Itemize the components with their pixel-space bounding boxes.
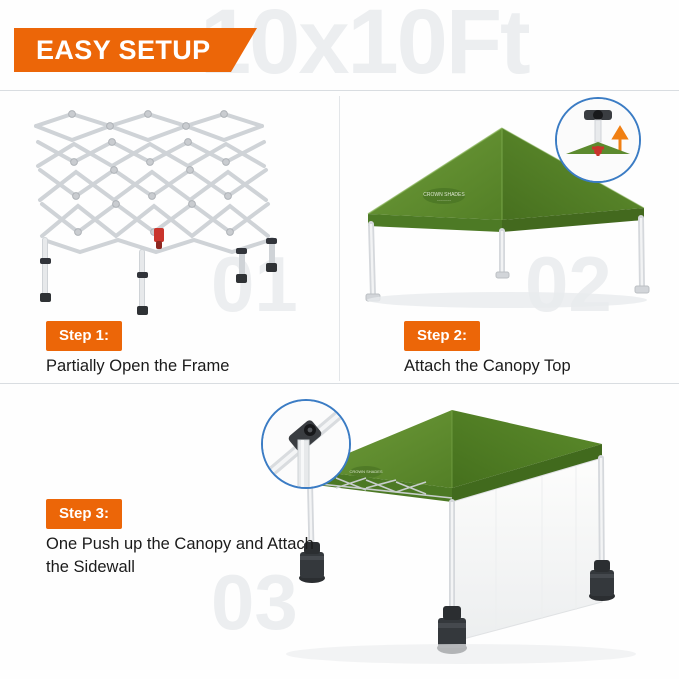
canopy-top-illustration: CROWN SHADES ~~~~~~~ [352,96,670,311]
folded-frame-illustration [14,100,324,315]
sidewall-push-up-photo: CROWN SHADES [246,392,666,670]
step-1-text: Partially Open the Frame [46,355,229,378]
divider-top [0,90,679,91]
svg-text:CROWN SHADES: CROWN SHADES [349,469,382,474]
svg-text:CROWN SHADES: CROWN SHADES [423,192,465,198]
banner-label: EASY SETUP [14,28,231,72]
canopy-top-photo: CROWN SHADES ~~~~~~~ [352,96,670,311]
product-instruction-graphic: 10x10Ft EASY SETUP 01 02 03 [0,0,679,679]
divider-middle [0,383,679,384]
folded-frame-photo [14,100,324,315]
peak-attachment-callout [556,98,640,182]
banner-arrow-shape [231,28,257,72]
easy-setup-banner: EASY SETUP [14,28,257,72]
sidewall-illustration: CROWN SHADES [246,392,666,670]
center-pull-tag [154,228,164,249]
step-2-pill: Step 2: [404,321,480,351]
push-button-callout [262,400,350,488]
svg-text:~~~~~~~: ~~~~~~~ [437,199,451,203]
step-3-text: One Push up the Canopy and Attach the Si… [46,533,326,579]
step-3-pill: Step 3: [46,499,122,529]
divider-vertical [339,96,340,381]
step-2-text: Attach the Canopy Top [404,355,571,378]
step-1-pill: Step 1: [46,321,122,351]
